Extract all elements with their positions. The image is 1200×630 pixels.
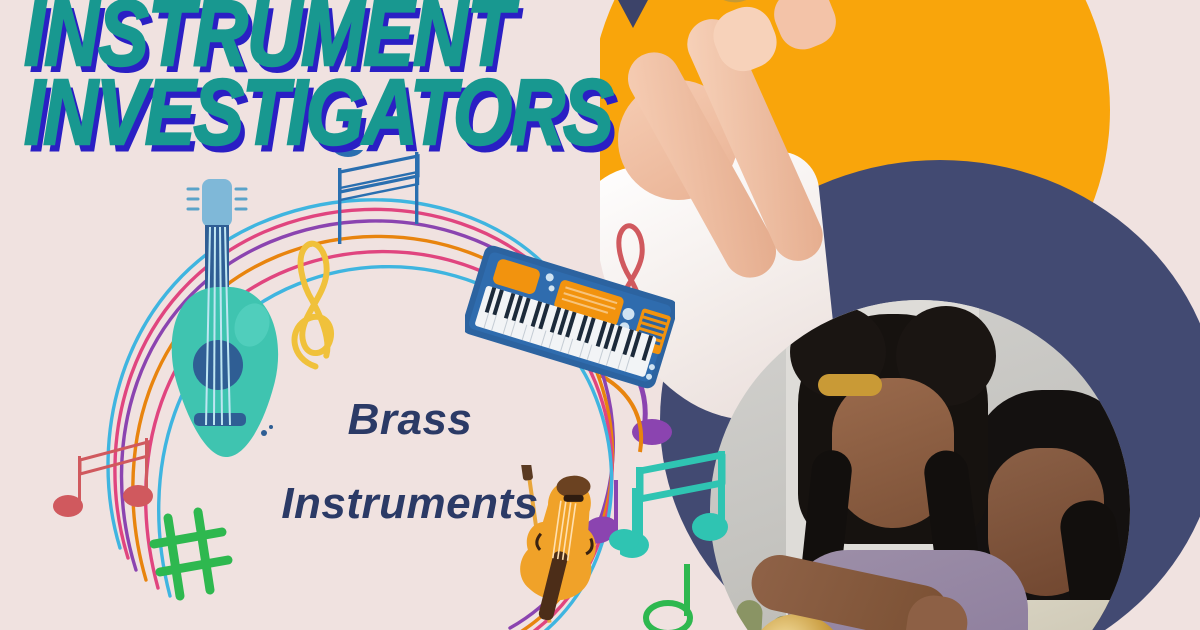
- subtitle: Brass Instruments: [245, 378, 575, 545]
- subtitle-line-1: Brass: [245, 378, 575, 462]
- subtitle-line-2: Instruments: [245, 462, 575, 546]
- two-girls-trumpet-lesson-photo: [710, 300, 1130, 630]
- poster-canvas: INSTRUMENT INVESTIGATORS Brass Instrumen…: [0, 0, 1200, 630]
- red-beamed-eighth-notes-icon: [53, 438, 153, 517]
- green-sharp-symbol-icon: [154, 512, 228, 596]
- blue-orange-electronic-keyboard-icon: [465, 245, 675, 390]
- page-title: INSTRUMENT INVESTIGATORS: [24, 0, 704, 153]
- title-line-2: INVESTIGATORS: [24, 74, 704, 154]
